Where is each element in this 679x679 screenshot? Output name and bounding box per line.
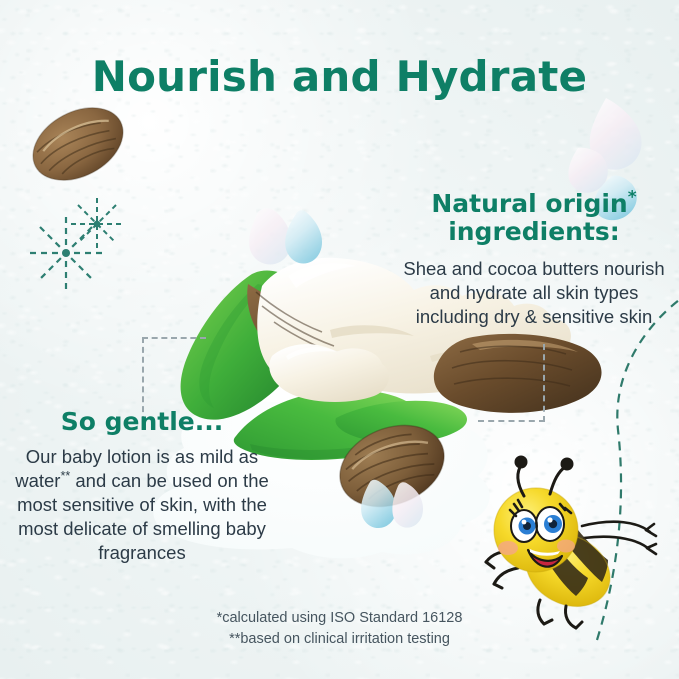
background-texture: [0, 0, 679, 679]
dashed-corner-bracket: [478, 344, 545, 422]
natural-origin-heading-line1: Natural origin: [431, 189, 627, 218]
natural-origin-heading-line2: ingredients:: [448, 217, 620, 246]
footnote-line-1: *calculated using ISO Standard 16128: [0, 608, 679, 629]
footnote-line-2: **based on clinical irritation testing: [0, 629, 679, 650]
footnotes: *calculated using ISO Standard 16128 **b…: [0, 608, 679, 649]
page-title: Nourish and Hydrate: [0, 52, 679, 101]
so-gentle-body: Our baby lotion is as mild as water** an…: [8, 445, 276, 566]
product-benefits-infographic: Nourish and Hydrate Natural origin*ingre…: [0, 0, 679, 679]
so-gentle-heading: So gentle...: [8, 408, 276, 436]
natural-origin-heading-asterisk: *: [628, 188, 637, 208]
benefit-so-gentle: So gentle... Our baby lotion is as mild …: [8, 408, 276, 566]
so-gentle-body-asterisks: **: [60, 469, 70, 483]
natural-origin-body: Shea and cocoa butters nourish and hydra…: [398, 257, 670, 329]
benefit-natural-origin: Natural origin*ingredients: Shea and coc…: [398, 190, 670, 329]
natural-origin-heading: Natural origin*ingredients:: [398, 190, 670, 246]
